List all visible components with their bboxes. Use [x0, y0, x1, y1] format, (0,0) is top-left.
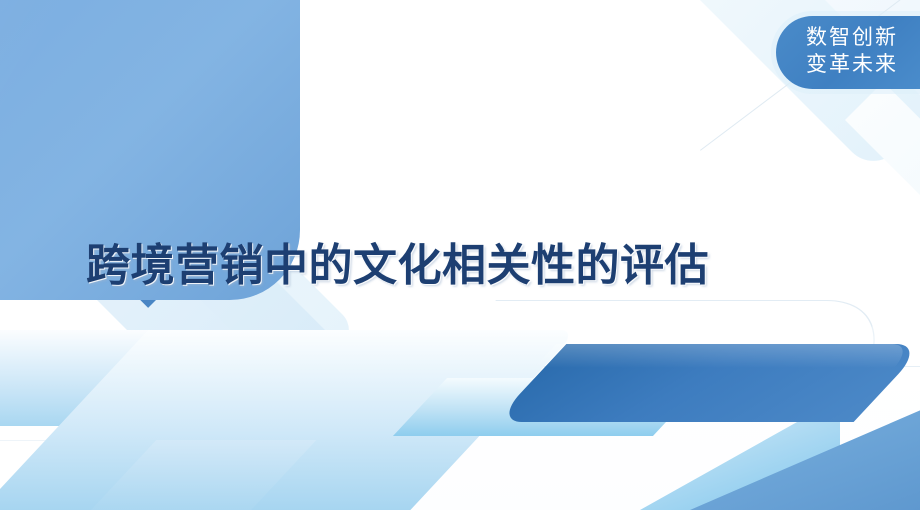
bottom-left-hairline [0, 440, 470, 441]
bottom-tail-panel [330, 366, 920, 518]
bottom-right-pale-sliver [393, 378, 707, 436]
corner-badge-line-2: 变革未来 [806, 52, 898, 79]
bottom-right-hairline [414, 300, 917, 421]
title-slide: 数智创新 变革未来 跨境营销中的文化相关性的评估 [0, 0, 920, 518]
bottom-right-dark-slab [494, 344, 920, 422]
top-right-faint-band-3 [845, 82, 920, 332]
bottom-right-light-wedge [640, 398, 840, 510]
bottom-left-parallelogram-3 [84, 440, 317, 518]
bottom-left-parallelogram-2 [0, 330, 578, 515]
bottom-white-strip [0, 510, 920, 518]
corner-badge: 数智创新 变革未来 [776, 16, 920, 89]
page-title: 跨境营销中的文化相关性的评估 [86, 229, 709, 293]
bottom-left-parallelogram-1 [0, 330, 275, 426]
corner-badge-line-1: 数智创新 [806, 25, 898, 52]
top-left-faint-band-d [12, 47, 358, 393]
bottom-right-wedge [690, 380, 920, 510]
bottom-right-dark-slab-highlight [534, 344, 916, 368]
